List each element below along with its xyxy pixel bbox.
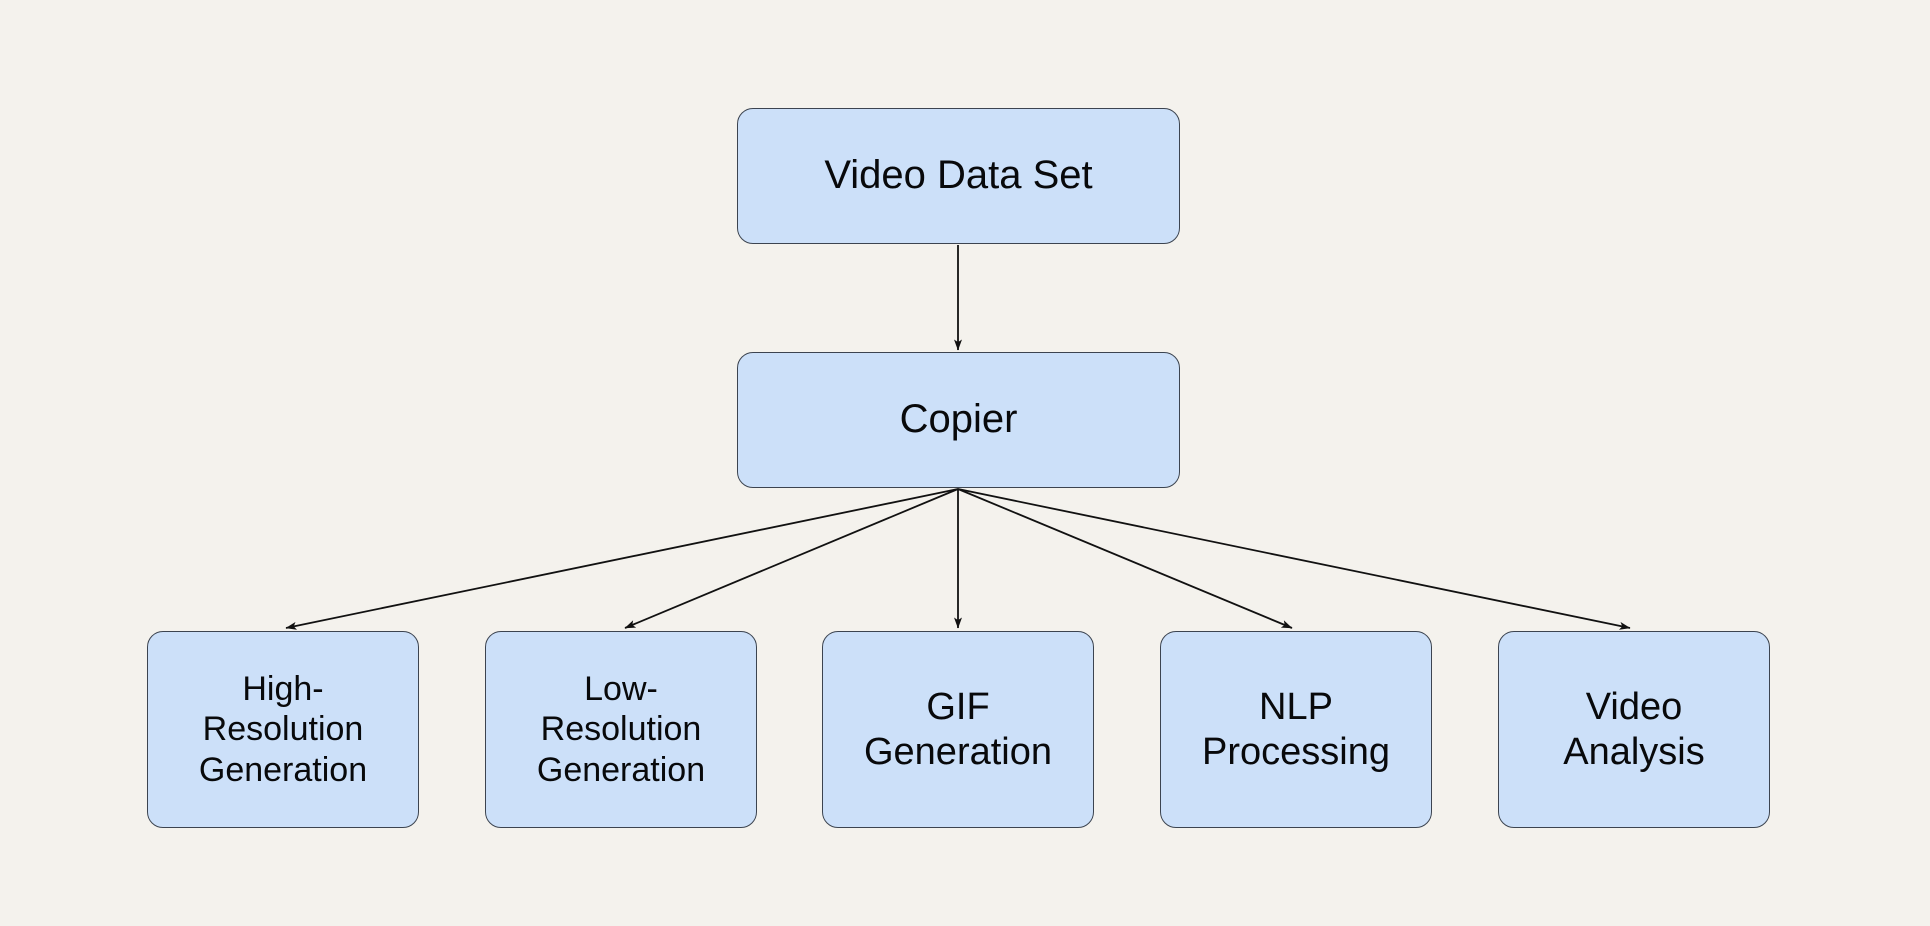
diagram-canvas: Video Data Set Copier High- Resolution G…	[0, 0, 1930, 926]
node-high-resolution-generation-label: High- Resolution Generation	[148, 669, 418, 789]
edge-copier-to-high-resolution-generation	[286, 489, 958, 628]
node-gif-generation[interactable]: GIF Generation	[822, 631, 1094, 828]
node-video-analysis-label: Video Analysis	[1499, 685, 1769, 775]
node-video-analysis[interactable]: Video Analysis	[1498, 631, 1770, 828]
node-video-data-set-label: Video Data Set	[738, 152, 1179, 199]
node-copier[interactable]: Copier	[737, 352, 1180, 488]
node-nlp-processing[interactable]: NLP Processing	[1160, 631, 1432, 828]
node-video-data-set[interactable]: Video Data Set	[737, 108, 1180, 244]
node-nlp-processing-label: NLP Processing	[1161, 685, 1431, 775]
node-low-resolution-generation-label: Low- Resolution Generation	[486, 669, 756, 789]
node-high-resolution-generation[interactable]: High- Resolution Generation	[147, 631, 419, 828]
edge-copier-to-video-analysis	[958, 489, 1630, 628]
node-copier-label: Copier	[738, 396, 1179, 443]
edge-copier-to-nlp-processing	[958, 489, 1292, 628]
edge-copier-to-low-resolution-generation	[625, 489, 958, 628]
node-gif-generation-label: GIF Generation	[823, 685, 1093, 775]
node-low-resolution-generation[interactable]: Low- Resolution Generation	[485, 631, 757, 828]
